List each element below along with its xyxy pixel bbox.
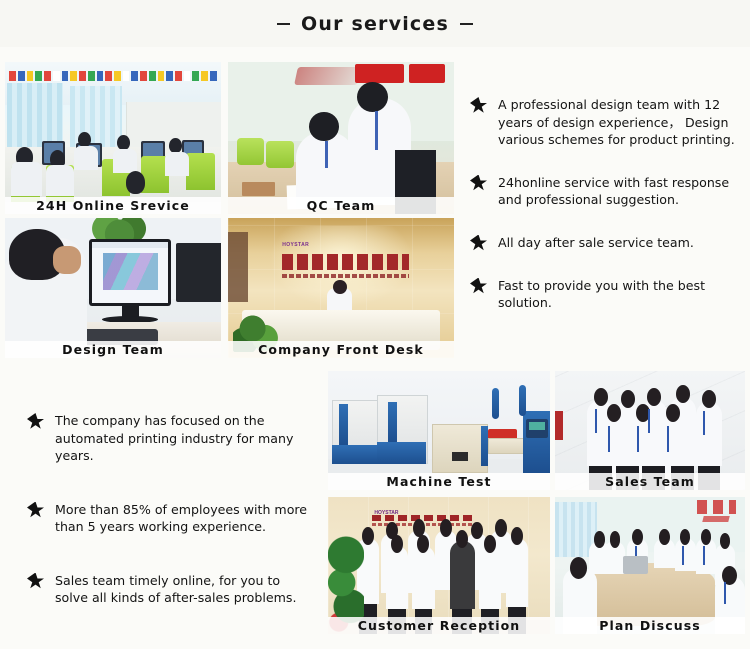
photo-card-plan-discuss[interactable]: Plan Discuss xyxy=(555,497,745,634)
page-header: Our services xyxy=(0,0,750,47)
photo-card-online-service[interactable]: 24H Online Srevice xyxy=(5,62,221,214)
photo-caption-machine-test: Machine Test xyxy=(328,473,550,490)
star-icon xyxy=(470,278,487,295)
star-icon xyxy=(27,502,44,519)
bullet-text: More than 85% of employees with more tha… xyxy=(55,501,312,536)
bullet-text: Fast to provide you with the best soluti… xyxy=(498,277,738,312)
photo-caption-plan-discuss: Plan Discuss xyxy=(555,617,745,634)
photo-card-customer-reception[interactable]: HOYSTAR Customer Reception xyxy=(328,497,550,634)
bullet-item: Sales team timely online, for you to sol… xyxy=(27,572,312,607)
photo-caption-sales-team: Sales Team xyxy=(555,473,745,490)
photo-caption-company-front-desk: Company Front Desk xyxy=(228,341,454,358)
bullet-text: 24honline service with fast response and… xyxy=(498,174,738,209)
photo-card-qc-team[interactable]: QC Team xyxy=(228,62,454,214)
bullet-text: All day after sale service team. xyxy=(498,234,694,252)
star-icon xyxy=(470,175,487,192)
page-title-text: Our services xyxy=(301,13,449,35)
star-icon xyxy=(470,97,487,114)
star-icon xyxy=(470,235,487,252)
front-desk-wall-logo: HOYSTAR xyxy=(282,242,309,248)
photo-caption-design-team: Design Team xyxy=(5,341,221,358)
photo-plan-discuss xyxy=(555,497,745,634)
bullet-item: The company has focused on the automated… xyxy=(27,412,312,465)
right-bullet-list: A professional design team with 12 years… xyxy=(470,96,738,312)
our-services-page: Our services xyxy=(0,0,750,649)
star-icon xyxy=(27,413,44,430)
photo-caption-qc-team: QC Team xyxy=(228,197,454,214)
bullet-text: The company has focused on the automated… xyxy=(55,412,312,465)
photo-card-machine-test[interactable]: Machine Test xyxy=(328,371,550,490)
photo-design-team xyxy=(5,218,221,358)
photo-qc-team xyxy=(228,62,454,214)
bullet-item: Fast to provide you with the best soluti… xyxy=(470,277,738,312)
title-dash-left-icon xyxy=(277,23,290,25)
photo-card-design-team[interactable]: Design Team xyxy=(5,218,221,358)
bullet-text: A professional design team with 12 years… xyxy=(498,96,738,149)
bullet-item: More than 85% of employees with more tha… xyxy=(27,501,312,536)
bullet-text: Sales team timely online, for you to sol… xyxy=(55,572,312,607)
page-title: Our services xyxy=(277,13,473,35)
title-dash-right-icon xyxy=(460,23,473,25)
bullet-item: 24honline service with fast response and… xyxy=(470,174,738,209)
bullet-item: All day after sale service team. xyxy=(470,234,738,252)
photo-card-sales-team[interactable]: Sales Team xyxy=(555,371,745,490)
photo-caption-customer-reception: Customer Reception xyxy=(328,617,550,634)
photo-company-front-desk: HOYSTAR xyxy=(228,218,454,358)
photo-customer-reception: HOYSTAR xyxy=(328,497,550,634)
photo-card-company-front-desk[interactable]: HOYSTAR Company Front Desk xyxy=(228,218,454,358)
photo-caption-online-service: 24H Online Srevice xyxy=(5,197,221,214)
bullet-item: A professional design team with 12 years… xyxy=(470,96,738,149)
bottom-bullet-list: The company has focused on the automated… xyxy=(27,412,312,607)
photo-online-service xyxy=(5,62,221,214)
star-icon xyxy=(27,573,44,590)
